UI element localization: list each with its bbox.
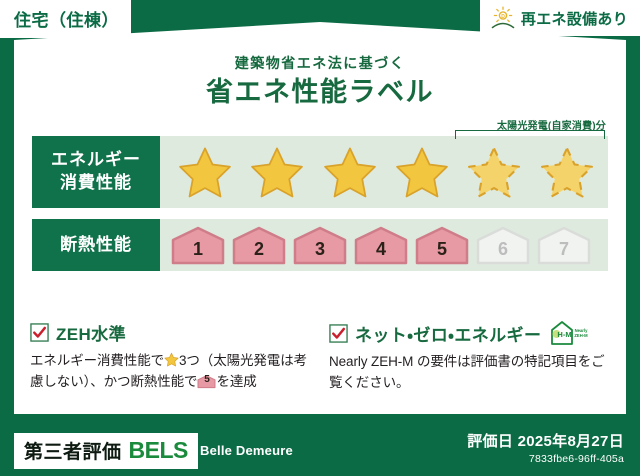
inline-grade-badge: 5 — [197, 374, 216, 389]
inline-star-icon — [164, 352, 179, 367]
renewable-badge-label: 再エネ設備あり — [521, 8, 628, 29]
insulation-grade-badge: 7 — [536, 225, 592, 265]
insulation-grade-scale: 1 2 3 4 5 — [170, 225, 608, 265]
insulation-grade-badge: 2 — [231, 225, 287, 265]
note-net-zero-energy: ネット・ゼロ・エネルギー H-M Nearly ZEH-M Nearly ZEH… — [329, 320, 614, 394]
owner-name: Belle Demeure — [200, 443, 293, 458]
notes-section: ZEH水準 エネルギー消費性能で3つ（太陽光発電は考慮しない）、かつ断熱性能で5… — [30, 320, 614, 394]
insulation-grade-badge: 4 — [353, 225, 409, 265]
insulation-grade-value: 6 — [498, 240, 508, 265]
insulation-grade-badge: 3 — [292, 225, 348, 265]
insulation-performance-row: 断熱性能 1 2 3 — [32, 219, 608, 271]
insulation-grade-value: 5 — [437, 240, 447, 265]
insulation-grade-badge: 6 — [475, 225, 531, 265]
third-party-label: 第三者評価 — [24, 437, 122, 464]
note-zeh-standard-body: エネルギー消費性能で3つ（太陽光発電は考慮しない）、かつ断熱性能で5を達成 — [30, 351, 315, 393]
insulation-row-header-line1: 断熱性能 — [60, 234, 132, 257]
insulation-grade-value: 4 — [376, 240, 386, 265]
sun-renewable-icon: D — [490, 5, 516, 31]
note-text-part3: を達成 — [216, 374, 256, 389]
insulation-grade-badge: 5 — [414, 225, 470, 265]
label-title: 建築物省エネ法に基づく 省エネ性能ラベル — [0, 56, 640, 110]
star-solar-icon — [466, 144, 522, 200]
title-subtitle: 建築物省エネ法に基づく — [0, 56, 640, 70]
inline-grade-value: 5 — [197, 374, 216, 389]
insulation-grade-value: 1 — [193, 240, 203, 265]
svg-text:D: D — [501, 14, 505, 20]
note-zeh-standard-header: ZEH水準 — [30, 320, 315, 345]
star-solar-icon — [539, 144, 595, 200]
energy-performance-label: 住宅（住棟） D 再エネ設備あり 建築物省エネ法に基づく 省エネ性能ラベル — [0, 0, 640, 476]
insulation-grade-value: 3 — [315, 240, 325, 265]
bels-certification-badge: 第三者評価 BELS — [14, 433, 198, 469]
insulation-grade-value: 2 — [254, 240, 264, 265]
energy-row-header: エネルギー 消費性能 — [32, 136, 160, 208]
checkbox-checked-icon — [30, 323, 49, 342]
energy-star-rating — [164, 144, 608, 200]
star-filled-icon — [249, 144, 305, 200]
building-type-tag: 住宅（住棟） — [0, 0, 131, 38]
insulation-grade-badge: 1 — [170, 225, 226, 265]
insulation-grade-value: 7 — [559, 240, 569, 265]
star-filled-icon — [394, 144, 450, 200]
note-net-zero-body: Nearly ZEH-M の要件は評価書の特記項目をご覧ください。 — [329, 352, 614, 394]
nearly-zeh-m-logo-icon: H-M Nearly ZEH-M — [550, 320, 590, 346]
insulation-row-header: 断熱性能 — [32, 219, 160, 271]
energy-performance-row: エネルギー 消費性能 太陽光発電(自家消費)分 — [32, 136, 608, 208]
note-zeh-standard: ZEH水準 エネルギー消費性能で3つ（太陽光発電は考慮しない）、かつ断熱性能で5… — [30, 320, 315, 394]
note-net-zero-title: ネット・ゼロ・エネルギー — [355, 321, 541, 346]
svg-text:H-M: H-M — [558, 330, 572, 339]
star-filled-icon — [177, 144, 233, 200]
rating-rows: エネルギー 消費性能 太陽光発電(自家消費)分 — [32, 136, 608, 282]
note-zeh-standard-title: ZEH水準 — [56, 320, 126, 345]
label-footer: 第三者評価 BELS Belle Demeure 評価日 2025年8月27日 … — [0, 424, 640, 476]
energy-row-header-line1: エネルギー — [51, 149, 141, 172]
note-text-part1: エネルギー消費性能で — [30, 353, 164, 368]
evaluation-date: 評価日 2025年8月27日 — [467, 430, 624, 451]
insulation-row-body: 1 2 3 4 5 — [160, 219, 608, 271]
svg-text:ZEH-M: ZEH-M — [575, 333, 589, 338]
solar-contribution-bracket — [455, 130, 605, 139]
title-main: 省エネ性能ラベル — [0, 74, 640, 110]
renewable-equipment-badge: D 再エネ設備あり — [480, 0, 640, 36]
energy-row-body: 太陽光発電(自家消費)分 — [160, 136, 608, 208]
note-net-zero-header: ネット・ゼロ・エネルギー H-M Nearly ZEH-M — [329, 320, 614, 346]
star-filled-icon — [322, 144, 378, 200]
bels-logo-text: BELS — [129, 437, 188, 464]
evaluation-id: 7833fbe6-96ff-405a — [467, 453, 624, 465]
checkbox-checked-icon — [329, 324, 348, 343]
energy-row-header-line2: 消費性能 — [60, 172, 132, 195]
evaluation-info: 評価日 2025年8月27日 7833fbe6-96ff-405a — [467, 430, 624, 465]
